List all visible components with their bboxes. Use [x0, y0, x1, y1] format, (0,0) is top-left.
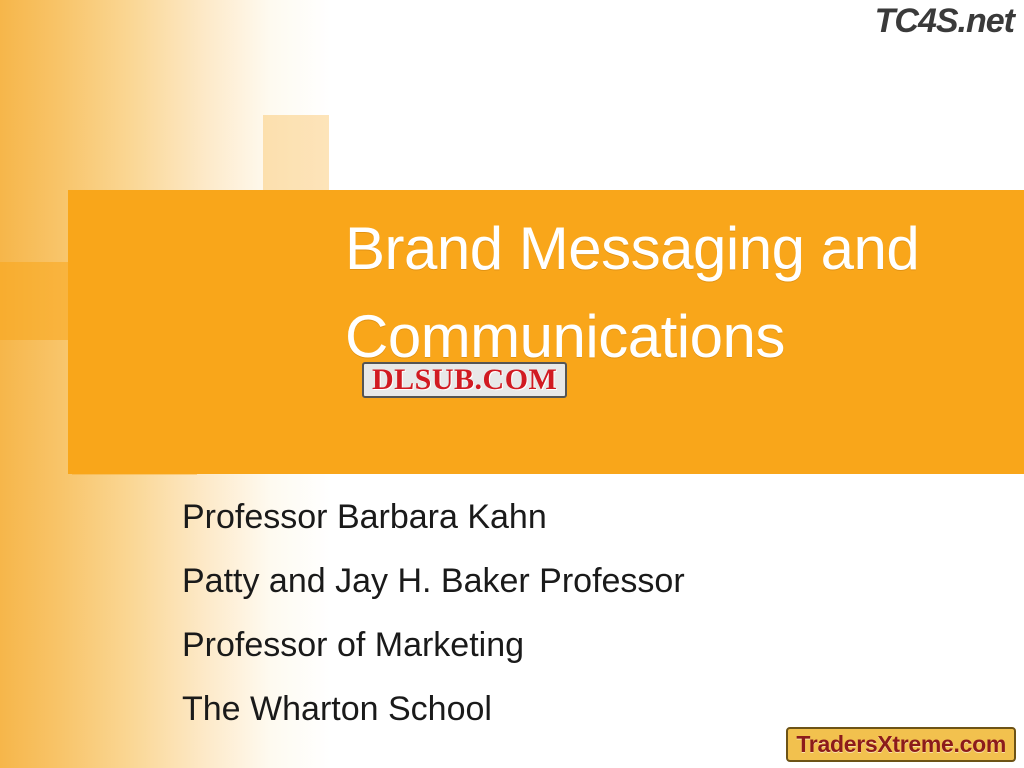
slide-title: Brand Messaging and Communications [345, 205, 1015, 381]
watermark-top-right: TC4S.net [875, 2, 1014, 41]
watermark-bottom-right: TradersXtreme.com [786, 727, 1016, 762]
subtitle-line-chair: Patty and Jay H. Baker Professor [182, 549, 982, 613]
presentation-slide: Brand Messaging and Communications Profe… [0, 0, 1024, 768]
decorative-square [0, 262, 72, 340]
subtitle-line-department: Professor of Marketing [182, 613, 982, 677]
watermark-center: DLSUB.COM [362, 362, 567, 398]
slide-title-line-1: Brand Messaging and [345, 205, 1015, 293]
decorative-square [263, 115, 329, 190]
slide-subtitle: Professor Barbara Kahn Patty and Jay H. … [182, 485, 982, 741]
subtitle-line-presenter: Professor Barbara Kahn [182, 485, 982, 549]
